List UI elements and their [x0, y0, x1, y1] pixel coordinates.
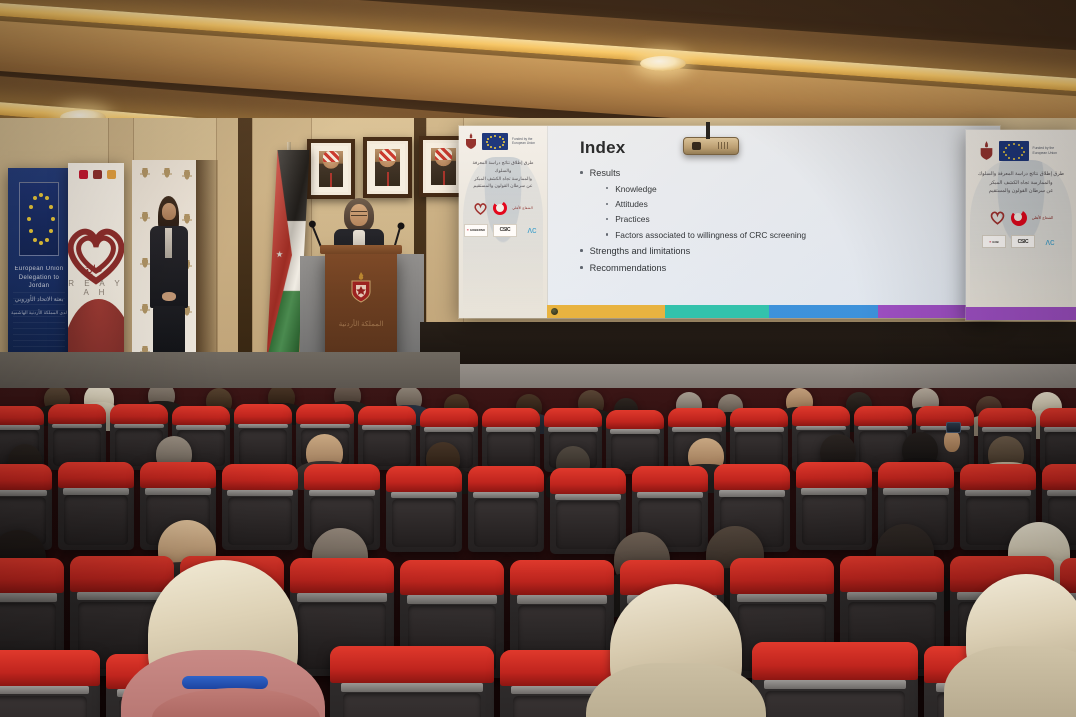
seat[interactable] — [48, 404, 106, 470]
reayah-heart-icon — [473, 202, 488, 215]
slide-bullet-text: Recommendations — [590, 262, 667, 275]
seat[interactable] — [222, 464, 298, 550]
cancer-society-icon — [1011, 210, 1027, 226]
slide-bullet-text: Factors associated to willingness of CRC… — [615, 230, 806, 242]
seat[interactable] — [58, 462, 134, 550]
eu-stars — [20, 183, 58, 255]
slide-partner-logos-2: ≡GOB CSIC ʌc — [966, 235, 1076, 249]
speaker-assistant — [146, 196, 192, 372]
slide-bullet: Strengths and limitations — [580, 245, 1000, 258]
footer-segment-teal — [665, 305, 769, 318]
portrait-face — [319, 151, 343, 188]
portrait-mat — [370, 144, 405, 191]
slide-bullet: Knowledge — [606, 184, 1000, 196]
seat[interactable] — [330, 646, 494, 717]
hijab-band — [182, 676, 268, 689]
backdrop-edge-shadow — [196, 160, 218, 368]
portrait-mat — [426, 143, 461, 190]
bullet-dot-icon — [606, 203, 608, 205]
seat[interactable] — [386, 466, 462, 552]
assistant-head — [162, 203, 176, 220]
seat[interactable] — [606, 410, 664, 474]
slide-duplicate: Funded by the European Union طرق إطلاق ن… — [966, 130, 1076, 320]
slide-bullet: Factors associated to willingness of CRC… — [606, 230, 1000, 242]
banner-reayah: رعاية R E A Y A H — [68, 163, 124, 363]
reayah-partner-marks — [68, 163, 124, 185]
footer-segment-amber — [547, 305, 665, 318]
seat[interactable] — [730, 408, 788, 472]
slide-bullet-text: Attitudes — [615, 199, 648, 211]
seat[interactable] — [234, 404, 292, 470]
slide-partner-logos: الشعاع الأهلي — [459, 201, 547, 215]
bullet-dot-icon — [606, 187, 608, 189]
slide-bullet-text: Strengths and limitations — [590, 245, 691, 258]
reayah-heart-icon — [989, 210, 1006, 225]
slide-bullet: Practices — [606, 214, 1000, 226]
seat[interactable] — [358, 406, 416, 470]
slide-arabic-title: طرق إطلاق نتائج دراسة المعرفة والسلوك وا… — [464, 159, 542, 190]
auditorium-photo: European Union Delegation to Jordan بعثة… — [0, 0, 1076, 717]
bullet-dot-icon — [580, 266, 583, 269]
footer-seal-icon — [551, 308, 558, 315]
slide-duplicate-sidebar: Funded by the European Union طرق إطلاق ن… — [966, 130, 1076, 320]
bullet-dot-icon — [580, 171, 583, 174]
slide-footer-bar — [547, 305, 1000, 318]
jordan-crown-icon — [978, 140, 995, 161]
slide-arabic-line-3: عن سرطان القولون والمستقيم — [464, 182, 542, 190]
slide-bullet: Attitudes — [606, 199, 1000, 211]
spain-government-icon: ≡GOB — [982, 235, 1006, 248]
arabic-partner-label: الشعاع الأهلي — [512, 202, 532, 215]
presenter-glasses — [351, 211, 367, 216]
reayah-wordmark: R E A Y A H — [68, 279, 124, 297]
eu-flag-logo — [19, 182, 59, 256]
footer-segment-blue — [769, 305, 878, 318]
stage-skirt — [420, 322, 1076, 364]
seat[interactable] — [550, 468, 626, 554]
csic-icon: CSIC — [493, 224, 517, 237]
eu-flag-icon — [999, 141, 1029, 161]
reayah-arabic: رعاية — [68, 263, 124, 276]
eu-name-line1: European Union — [15, 266, 64, 272]
seat[interactable] — [1040, 408, 1076, 472]
portrait-mat — [314, 146, 348, 192]
jordan-crown-icon — [464, 132, 478, 150]
slide-title: Index — [580, 138, 1000, 158]
slide-bullet-text: Results — [590, 167, 621, 180]
slide-arabic-line-1: طرق إطلاق نتائج دراسة المعرفة والسلوك — [464, 159, 542, 175]
slide-bullet: Results — [580, 167, 1000, 180]
assistant-hands — [162, 292, 176, 301]
seat[interactable] — [0, 650, 100, 717]
slide-arabic-line-3: عن سرطان القولون والمستقيم — [971, 187, 1071, 196]
slide-eu-caption: Funded by the European Union — [512, 137, 542, 145]
podium: المملكة الأردنية — [325, 252, 397, 368]
slide-sidebar: Funded by the European Union طرق إطلاق ن… — [459, 126, 548, 318]
slide-arabic-line-2: والممارسة تجاه الكشف المبكر — [971, 179, 1071, 188]
eu-flag-icon — [482, 133, 508, 150]
smartphone[interactable] — [946, 422, 961, 433]
csic-icon: CSIC — [1011, 235, 1035, 248]
seat[interactable] — [468, 466, 544, 552]
audience-head-hijab — [610, 584, 742, 716]
royal-portrait — [363, 137, 412, 198]
projector-lens-icon — [692, 142, 701, 150]
assistant-shirt — [165, 228, 172, 258]
seat[interactable] — [796, 462, 872, 550]
royal-portrait — [307, 139, 355, 199]
portrait-face — [375, 149, 400, 187]
slide-bullet-text: Practices — [615, 214, 649, 226]
banner-european-union: European Union Delegation to Jordan بعثة… — [8, 168, 70, 360]
eu-name-line2: Delegation to Jordan — [19, 275, 60, 290]
portrait-face — [431, 148, 456, 186]
slide-footer-bar — [966, 307, 1076, 320]
slide-logo-row: Funded by the European Union — [966, 140, 1076, 161]
spain-government-icon: ≡GOBIERNO — [464, 224, 488, 237]
podium-engraving: المملكة الأردنية — [325, 320, 397, 328]
podium-top-edge — [320, 245, 402, 254]
projector-vent — [718, 142, 730, 149]
bullet-dot-icon — [606, 218, 608, 220]
audience-head-hijab — [966, 574, 1076, 694]
slide-arabic-line-1: طرق إطلاق نتائج دراسة المعرفة والسلوك — [971, 170, 1071, 179]
seat[interactable] — [752, 642, 918, 717]
cancer-society-icon — [493, 201, 507, 215]
slide-arabic-line-2: والممارسة تجاه الكشف المبكر — [464, 175, 542, 183]
slide-eu-caption: Funded by the European Union — [1033, 146, 1065, 155]
seat[interactable] — [482, 408, 540, 472]
slide-logo-row: Funded by the European Union — [459, 132, 547, 150]
jordan-coat-of-arms-icon — [348, 270, 374, 304]
secondary-projection-panel: Funded by the European Union طرق إطلاق ن… — [966, 130, 1076, 320]
bullet-dot-icon — [580, 249, 583, 252]
footer-segment-purple — [966, 307, 1076, 320]
slide-arabic-title: طرق إطلاق نتائج دراسة المعرفة والسلوك وا… — [971, 170, 1071, 196]
ceiling-projector — [683, 137, 739, 155]
slide-bullet: Recommendations — [580, 262, 1000, 275]
bullet-dot-icon — [606, 233, 608, 235]
ac-logo-icon: ʌc — [522, 223, 542, 237]
audience-hand — [944, 430, 960, 452]
slide-bullet-text: Knowledge — [615, 184, 656, 196]
ac-logo-icon: ʌc — [1040, 235, 1060, 249]
stage-panel-left — [300, 256, 326, 366]
slide-body: Index Results Knowledge Attitudes Practi… — [548, 126, 1000, 318]
slide-partner-logos-2: ≡GOBIERNO CSIC ʌc — [459, 223, 547, 237]
eu-banner-fineprint — [13, 292, 65, 350]
audience-area — [0, 388, 1076, 717]
slide-partner-logos: الشعاع الأهلي — [966, 210, 1076, 226]
arabic-partner-label: الشعاع الأهلي — [1032, 211, 1054, 224]
